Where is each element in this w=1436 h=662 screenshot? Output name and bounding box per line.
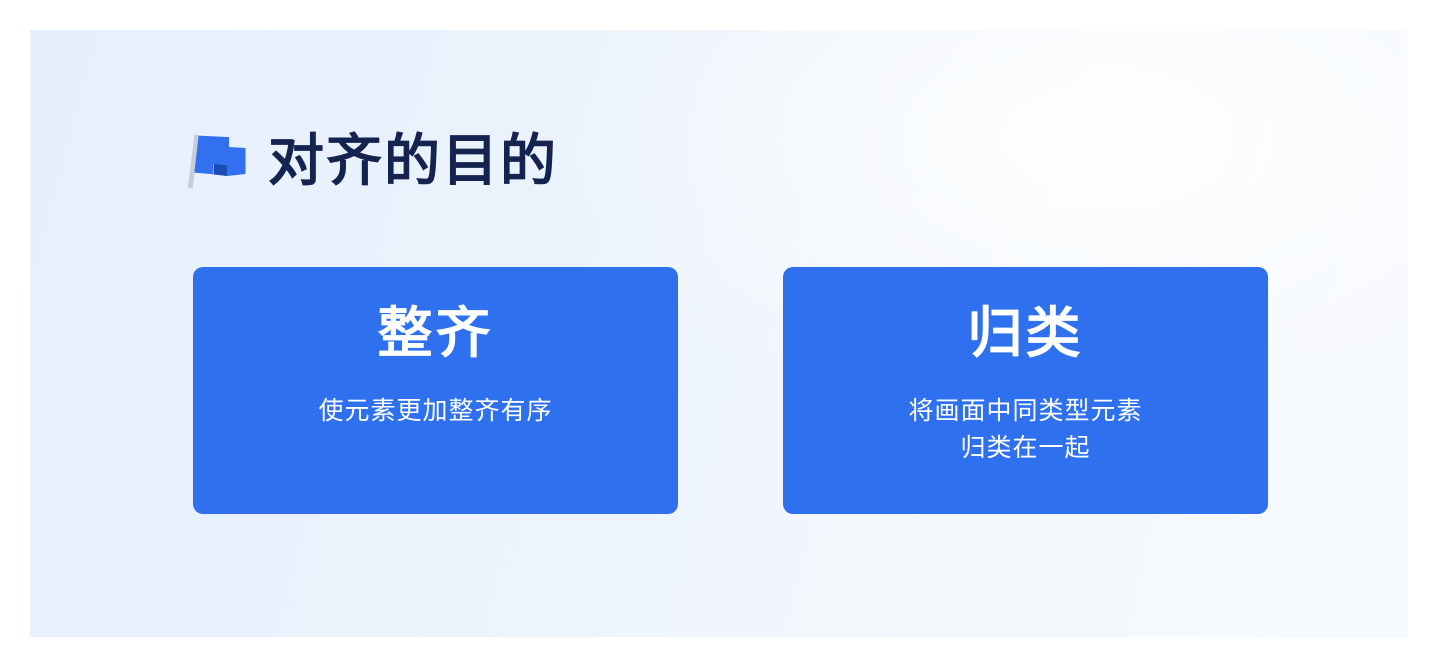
flag-icon: [180, 125, 252, 197]
card-heading: 整齐: [377, 303, 493, 365]
slide-header: 对齐的目的: [180, 125, 558, 197]
slide-frame: 对齐的目的 整齐 使元素更加整齐有序 归类 将画面中同类型元素 归类在一起: [0, 0, 1436, 662]
info-card-guilei[interactable]: 归类 将画面中同类型元素 归类在一起: [783, 267, 1268, 514]
page-title: 对齐的目的: [268, 129, 558, 193]
card-body: 使元素更加整齐有序: [318, 393, 552, 430]
card-heading: 归类: [967, 303, 1083, 365]
card-body: 将画面中同类型元素 归类在一起: [908, 393, 1142, 467]
cards-row: 整齐 使元素更加整齐有序 归类 将画面中同类型元素 归类在一起: [193, 267, 1278, 514]
info-card-zhengqi[interactable]: 整齐 使元素更加整齐有序: [193, 267, 678, 514]
slide-panel: 对齐的目的 整齐 使元素更加整齐有序 归类 将画面中同类型元素 归类在一起: [30, 30, 1408, 637]
